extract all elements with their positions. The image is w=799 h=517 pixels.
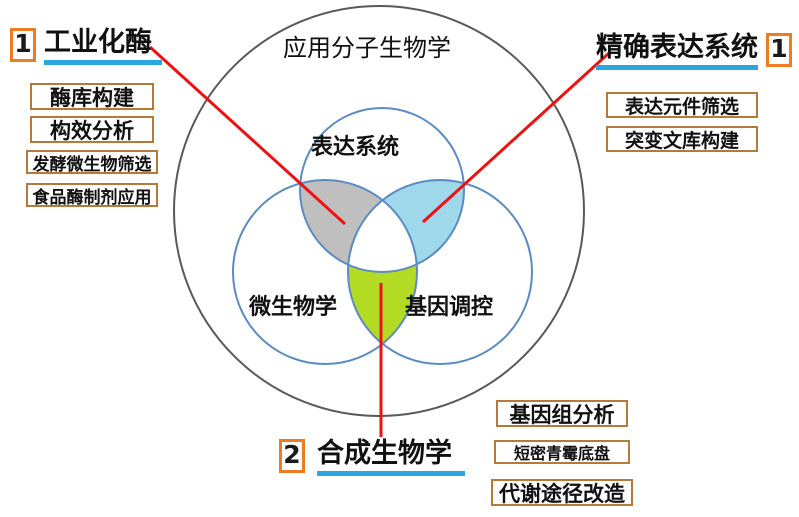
tag-precise-expression-2[interactable]: 突变文库构建 bbox=[606, 126, 758, 152]
tag-synthetic-biology-1[interactable]: 基因组分析 bbox=[496, 400, 628, 427]
tag-industrial-enzyme-3[interactable]: 发酵微生物筛选 bbox=[26, 150, 158, 174]
tag-industrial-enzyme-2[interactable]: 构效分析 bbox=[30, 116, 154, 143]
diagram-canvas: 应用分子生物学 表达系统 微生物学 基因调控 1 工业化酶 酶库构建 构效分析 … bbox=[0, 0, 799, 517]
tag-synthetic-biology-3[interactable]: 代谢途径改造 bbox=[491, 479, 633, 506]
section-title-synthetic-biology: 合成生物学 bbox=[317, 439, 465, 469]
section-underline-precise-expression bbox=[596, 65, 758, 70]
section-title-precise-expression: 精确表达系统 bbox=[596, 33, 758, 63]
section-underline-industrial-enzyme bbox=[44, 60, 162, 65]
venn-label-bottom-right: 基因调控 bbox=[405, 289, 493, 321]
section-number-badge-synthetic-biology: 2 bbox=[279, 439, 305, 473]
tag-industrial-enzyme-1[interactable]: 酶库构建 bbox=[30, 83, 154, 110]
connector-line-precise-expression bbox=[423, 53, 609, 222]
section-heading-precise-expression: 精确表达系统 1 bbox=[596, 33, 792, 70]
section-heading-industrial-enzyme: 1 工业化酶 bbox=[10, 28, 162, 65]
tag-synthetic-biology-2[interactable]: 短密青霉底盘 bbox=[494, 440, 630, 464]
venn-label-bottom-left: 微生物学 bbox=[249, 289, 337, 321]
section-title-industrial-enzyme: 工业化酶 bbox=[44, 28, 162, 58]
section-heading-synthetic-biology: 2 合成生物学 bbox=[279, 439, 465, 476]
section-number-badge-industrial-enzyme: 1 bbox=[10, 28, 36, 62]
section-number-badge-precise-expression: 1 bbox=[766, 33, 792, 67]
tag-industrial-enzyme-4[interactable]: 食品酶制剂应用 bbox=[26, 183, 158, 207]
outer-title: 应用分子生物学 bbox=[283, 28, 451, 63]
venn-label-top: 表达系统 bbox=[311, 129, 399, 161]
tag-precise-expression-1[interactable]: 表达元件筛选 bbox=[606, 92, 758, 118]
section-underline-synthetic-biology bbox=[317, 471, 465, 476]
